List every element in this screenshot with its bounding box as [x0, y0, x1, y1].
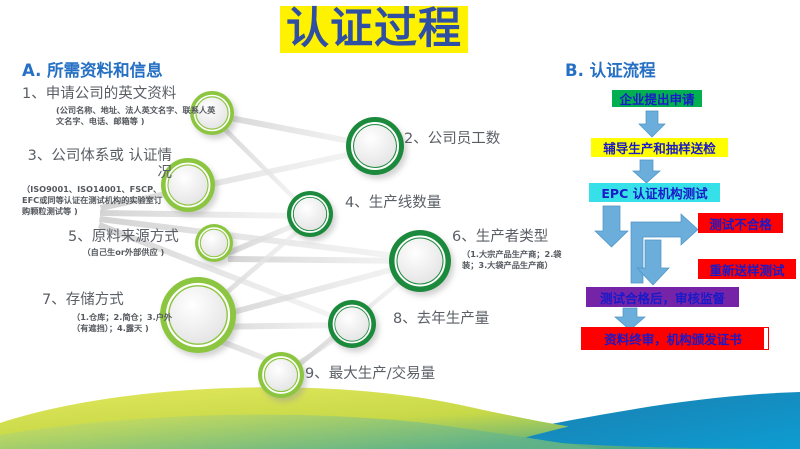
- section-a-heading: A. 所需资料和信息: [22, 57, 163, 81]
- flow-step-final-review-certificate[interactable]: 资料终审，机构颁发证书: [582, 328, 768, 349]
- flow-step-audit-supervision[interactable]: 测试合格后，审核监督: [586, 287, 739, 307]
- arrow-down-2: [633, 160, 660, 183]
- flow-step-guide-sampling[interactable]: 辅导生产和抽样送检: [591, 138, 728, 157]
- flow-step-epc-test[interactable]: EPC 认证机构测试: [589, 183, 720, 202]
- title-highlight: 认证过程: [280, 6, 468, 53]
- slide-canvas: 认证过程 A. 所需资料和信息 B. 认证流程 1、申请公司的英文资料 (公司名…: [0, 0, 800, 449]
- flow-step-resubmit-sample[interactable]: 重新送样测试: [698, 259, 796, 279]
- flow-step-test-failed[interactable]: 测试不合格: [698, 213, 783, 233]
- arrow-down-3: [615, 308, 645, 330]
- slide-title: 认证过程: [280, 6, 468, 53]
- section-b-heading: B. 认证流程: [565, 57, 656, 81]
- arrow-down-branch-left: [595, 206, 628, 247]
- page-title: 认证过程: [286, 6, 462, 51]
- arrow-down-1: [639, 111, 665, 137]
- flow-step-apply[interactable]: 企业提出申请: [612, 90, 702, 107]
